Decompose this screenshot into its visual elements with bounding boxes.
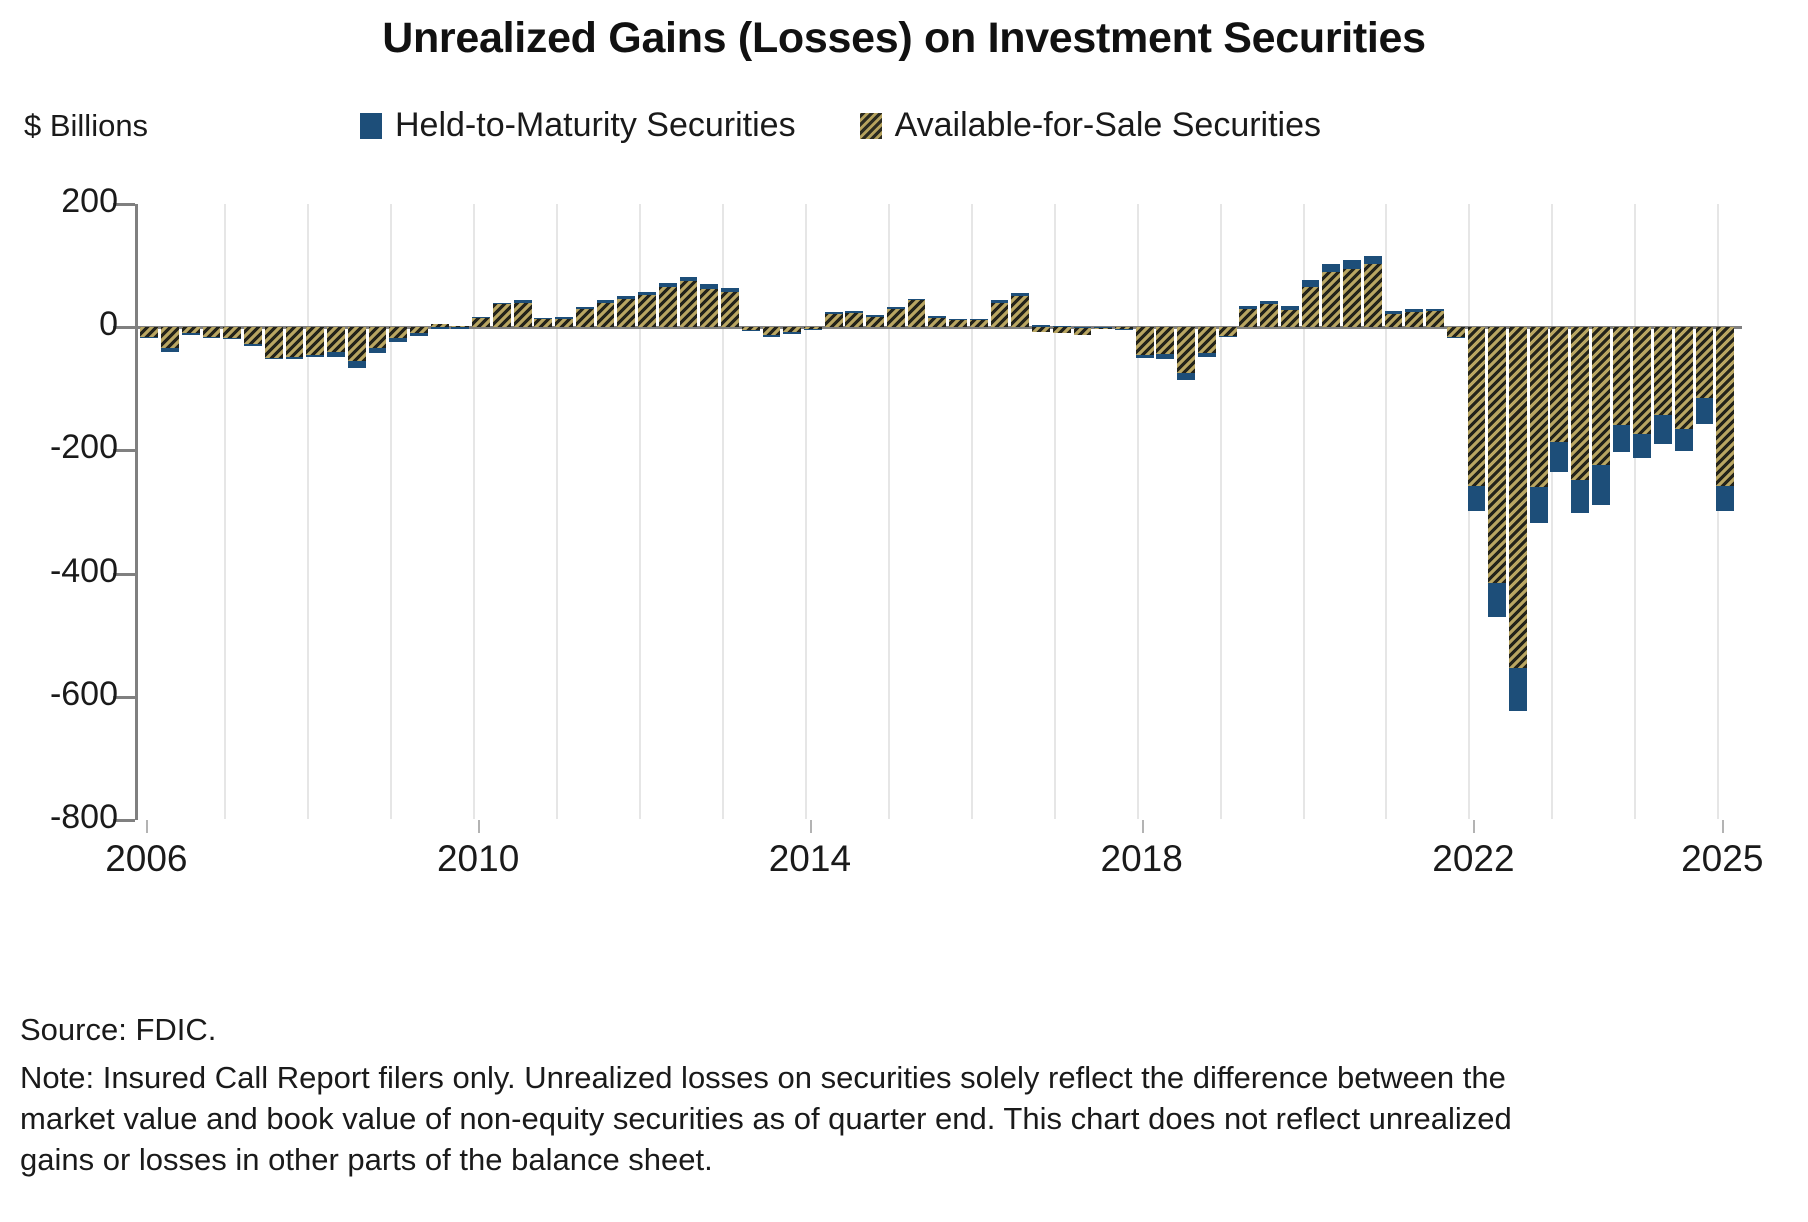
legend-swatch-afs-icon bbox=[860, 113, 882, 139]
bar-column[interactable] bbox=[1613, 204, 1631, 820]
bar-segment-afs bbox=[1239, 309, 1257, 327]
bar-column[interactable] bbox=[680, 204, 698, 820]
bar-segment-afs bbox=[1364, 264, 1382, 327]
bar-segment-htm bbox=[1509, 668, 1527, 711]
bar-column[interactable] bbox=[825, 204, 843, 820]
bar-segment-htm bbox=[1550, 442, 1568, 472]
bar-column[interactable] bbox=[928, 204, 946, 820]
bar-segment-afs bbox=[369, 327, 387, 348]
bar-segment-afs bbox=[597, 303, 615, 328]
bar-segment-afs bbox=[866, 317, 884, 327]
bar-segment-afs bbox=[161, 327, 179, 348]
bar-segment-htm bbox=[327, 352, 345, 356]
bar-segment-htm bbox=[223, 338, 241, 339]
bar-column[interactable] bbox=[908, 204, 926, 820]
bar-segment-htm bbox=[576, 307, 594, 309]
bar-column[interactable] bbox=[431, 204, 449, 820]
bar-segment-htm bbox=[1053, 326, 1071, 327]
bar-segment-afs bbox=[555, 319, 573, 328]
bar-segment-afs bbox=[534, 319, 552, 327]
bar-column[interactable] bbox=[1322, 204, 1340, 820]
bar-segment-htm bbox=[825, 312, 843, 313]
bar-column[interactable] bbox=[1239, 204, 1257, 820]
bar-segment-afs bbox=[576, 309, 594, 327]
bar-segment-htm bbox=[182, 333, 200, 334]
bar-column[interactable] bbox=[244, 204, 262, 820]
bar-segment-afs bbox=[1426, 311, 1444, 327]
bar-column[interactable] bbox=[763, 204, 781, 820]
page-title: Unrealized Gains (Losses) on Investment … bbox=[0, 14, 1808, 63]
bar-segment-afs bbox=[472, 317, 490, 327]
bar-segment-htm bbox=[680, 277, 698, 281]
bar-segment-afs bbox=[991, 303, 1009, 328]
bar-segment-afs bbox=[1613, 327, 1631, 425]
bar-segment-htm bbox=[1302, 280, 1320, 286]
bar-segment-afs bbox=[286, 327, 304, 357]
bar-segment-htm bbox=[1468, 486, 1486, 511]
bar-column[interactable] bbox=[1343, 204, 1361, 820]
x-axis-tick-label: 2018 bbox=[1101, 838, 1183, 880]
bar-column[interactable] bbox=[1716, 204, 1734, 820]
bar-segment-afs bbox=[1198, 327, 1216, 353]
bar-segment-htm bbox=[410, 333, 428, 335]
bar-segment-afs bbox=[721, 292, 739, 327]
bar-column[interactable] bbox=[949, 204, 967, 820]
bar-column[interactable] bbox=[1281, 204, 1299, 820]
bar-segment-htm bbox=[928, 316, 946, 317]
bar-segment-afs bbox=[1696, 327, 1714, 398]
bar-segment-afs bbox=[908, 300, 926, 327]
bar-column[interactable] bbox=[161, 204, 179, 820]
bar-column[interactable] bbox=[472, 204, 490, 820]
bar-segment-afs bbox=[1509, 327, 1527, 668]
bar-column[interactable] bbox=[493, 204, 511, 820]
bar-segment-htm bbox=[1343, 260, 1361, 269]
bar-column[interactable] bbox=[1405, 204, 1423, 820]
legend-item-afs[interactable]: Available-for-Sale Securities bbox=[860, 106, 1321, 145]
bar-column[interactable] bbox=[1447, 204, 1465, 820]
bar-segment-afs bbox=[389, 327, 407, 338]
bar-column[interactable] bbox=[327, 204, 345, 820]
bar-segment-afs bbox=[1468, 327, 1486, 486]
bar-segment-htm bbox=[970, 319, 988, 320]
bar-segment-afs bbox=[763, 327, 781, 335]
bar-segment-afs bbox=[638, 295, 656, 327]
y-axis-title: $ Billions bbox=[24, 108, 148, 144]
bar-segment-afs bbox=[1177, 327, 1195, 373]
bar-segment-htm bbox=[1613, 425, 1631, 452]
bar-column[interactable] bbox=[1094, 204, 1112, 820]
bar-segment-htm bbox=[991, 300, 1009, 302]
bar-segment-htm bbox=[1488, 583, 1506, 617]
bar-column[interactable] bbox=[514, 204, 532, 820]
bar-segment-afs bbox=[327, 327, 345, 352]
bar-segment-htm bbox=[1364, 256, 1382, 264]
legend-swatch-htm-icon bbox=[360, 113, 382, 139]
bar-segment-afs bbox=[1136, 327, 1154, 355]
bar-column[interactable] bbox=[1011, 204, 1029, 820]
bar-column[interactable] bbox=[1633, 204, 1651, 820]
bar-segment-htm bbox=[1571, 480, 1589, 513]
bar-segment-afs bbox=[1156, 327, 1174, 354]
bar-column[interactable] bbox=[306, 204, 324, 820]
bar-column[interactable] bbox=[866, 204, 884, 820]
bar-segment-htm bbox=[1260, 301, 1278, 304]
footnote: Note: Insured Call Report filers only. U… bbox=[20, 1058, 1580, 1181]
bar-segment-afs bbox=[1654, 327, 1672, 414]
bar-segment-afs bbox=[1032, 327, 1050, 332]
y-axis-tick-label: -200 bbox=[50, 428, 118, 467]
bar-column[interactable] bbox=[1053, 204, 1071, 820]
bar-segment-afs bbox=[1260, 304, 1278, 327]
bar-column[interactable] bbox=[369, 204, 387, 820]
bar-segment-htm bbox=[1219, 336, 1237, 337]
bar-segment-afs bbox=[1405, 312, 1423, 327]
legend-label-htm: Held-to-Maturity Securities bbox=[395, 106, 796, 145]
bar-column[interactable] bbox=[659, 204, 677, 820]
bar-column[interactable] bbox=[1550, 204, 1568, 820]
bar-segment-htm bbox=[1405, 309, 1423, 311]
bar-segment-htm bbox=[265, 358, 283, 359]
bar-segment-htm bbox=[161, 348, 179, 352]
bar-segment-afs bbox=[1592, 327, 1610, 464]
bar-column[interactable] bbox=[700, 204, 718, 820]
bar-segment-htm bbox=[1011, 293, 1029, 296]
bar-column[interactable] bbox=[451, 204, 469, 820]
bar-segment-htm bbox=[908, 299, 926, 300]
x-axis-tick bbox=[478, 820, 480, 833]
plot-area bbox=[135, 204, 1742, 819]
bar-segment-htm bbox=[493, 303, 511, 304]
bar-segment-htm bbox=[1322, 264, 1340, 273]
bar-segment-afs bbox=[1675, 327, 1693, 429]
bar-column[interactable] bbox=[1385, 204, 1403, 820]
bar-column[interactable] bbox=[1032, 204, 1050, 820]
bar-segment-afs bbox=[949, 320, 967, 327]
bar-column[interactable] bbox=[1675, 204, 1693, 820]
bar-segment-htm bbox=[451, 327, 469, 328]
bar-column[interactable] bbox=[1426, 204, 1444, 820]
x-axis-tick-label: 2014 bbox=[769, 838, 851, 880]
bar-segment-afs bbox=[244, 327, 262, 344]
bar-column[interactable] bbox=[265, 204, 283, 820]
bar-segment-htm bbox=[887, 307, 905, 308]
source-note: Source: FDIC. bbox=[20, 1012, 216, 1048]
bar-column[interactable] bbox=[804, 204, 822, 820]
bar-segment-htm bbox=[306, 355, 324, 357]
bar-segment-afs bbox=[1343, 269, 1361, 328]
bar-segment-afs bbox=[1716, 327, 1734, 486]
bar-column[interactable] bbox=[597, 204, 615, 820]
bar-segment-htm bbox=[721, 288, 739, 292]
bar-segment-htm bbox=[700, 284, 718, 289]
bar-column[interactable] bbox=[1219, 204, 1237, 820]
bar-segment-afs bbox=[680, 281, 698, 327]
bar-segment-afs bbox=[825, 314, 843, 328]
bar-column[interactable] bbox=[970, 204, 988, 820]
bar-segment-htm bbox=[1177, 373, 1195, 379]
bar-column[interactable] bbox=[576, 204, 594, 820]
bar-column[interactable] bbox=[887, 204, 905, 820]
bar-segment-afs bbox=[1053, 327, 1071, 333]
y-axis-tick-label: -600 bbox=[50, 675, 118, 714]
bar-column[interactable] bbox=[1074, 204, 1092, 820]
bar-segment-afs bbox=[1011, 296, 1029, 327]
bar-column[interactable] bbox=[1156, 204, 1174, 820]
bar-column[interactable] bbox=[1696, 204, 1714, 820]
bar-segment-htm bbox=[659, 283, 677, 287]
bar-segment-afs bbox=[887, 309, 905, 327]
bar-segment-afs bbox=[1633, 327, 1651, 434]
bar-column[interactable] bbox=[1198, 204, 1216, 820]
bar-segment-htm bbox=[1032, 325, 1050, 327]
bar-column[interactable] bbox=[1530, 204, 1548, 820]
bar-segment-htm bbox=[1074, 327, 1092, 328]
bar-segment-htm bbox=[1530, 487, 1548, 523]
bar-segment-htm bbox=[534, 318, 552, 319]
bar-segment-htm bbox=[1115, 329, 1133, 330]
y-axis-tick-label: -800 bbox=[50, 798, 118, 837]
bar-column[interactable] bbox=[348, 204, 366, 820]
bar-segment-afs bbox=[348, 327, 366, 361]
bar-column[interactable] bbox=[182, 204, 200, 820]
bar-column[interactable] bbox=[534, 204, 552, 820]
bar-segment-afs bbox=[140, 327, 158, 337]
bar-segment-afs bbox=[1550, 327, 1568, 442]
bar-column[interactable] bbox=[742, 204, 760, 820]
legend-item-htm[interactable]: Held-to-Maturity Securities bbox=[360, 106, 796, 145]
bar-segment-htm bbox=[244, 344, 262, 346]
bar-segment-htm bbox=[555, 317, 573, 318]
bar-segment-afs bbox=[223, 327, 241, 337]
bar-segment-afs bbox=[1385, 314, 1403, 328]
bar-segment-htm bbox=[783, 332, 801, 333]
bar-segment-htm bbox=[597, 300, 615, 302]
bar-column[interactable] bbox=[845, 204, 863, 820]
bar-segment-afs bbox=[659, 287, 677, 328]
bar-column[interactable] bbox=[140, 204, 158, 820]
bar-column[interactable] bbox=[1654, 204, 1672, 820]
bar-segment-htm bbox=[1426, 309, 1444, 311]
bar-segment-afs bbox=[514, 303, 532, 328]
bar-segment-htm bbox=[1281, 306, 1299, 310]
y-axis-tick-label: 0 bbox=[99, 305, 118, 344]
x-axis-tick-label: 2025 bbox=[1681, 838, 1763, 880]
bar-segment-afs bbox=[493, 304, 511, 327]
bar-segment-htm bbox=[949, 319, 967, 320]
x-axis-tick bbox=[1722, 820, 1724, 833]
bar-column[interactable] bbox=[783, 204, 801, 820]
chart-legend: Held-to-Maturity Securities Available-fo… bbox=[360, 106, 1360, 145]
bar-column[interactable] bbox=[638, 204, 656, 820]
bar-segment-afs bbox=[1281, 310, 1299, 327]
bar-segment-htm bbox=[472, 317, 490, 318]
x-axis-tick bbox=[1142, 820, 1144, 833]
x-axis-tick bbox=[1473, 820, 1475, 833]
bar-segment-htm bbox=[742, 330, 760, 331]
bar-column[interactable] bbox=[555, 204, 573, 820]
y-axis-tick-label: 200 bbox=[61, 182, 118, 221]
bar-column[interactable] bbox=[223, 204, 241, 820]
bar-segment-afs bbox=[1447, 327, 1465, 337]
bar-column[interactable] bbox=[286, 204, 304, 820]
bar-segment-afs bbox=[1302, 287, 1320, 328]
bar-column[interactable] bbox=[1302, 204, 1320, 820]
bar-column[interactable] bbox=[389, 204, 407, 820]
bar-segment-afs bbox=[203, 327, 221, 337]
bar-segment-afs bbox=[970, 320, 988, 327]
bar-column[interactable] bbox=[1509, 204, 1527, 820]
bar-column[interactable] bbox=[1468, 204, 1486, 820]
bar-segment-afs bbox=[928, 317, 946, 327]
bar-segment-htm bbox=[1094, 327, 1112, 328]
x-axis-tick-label: 2006 bbox=[105, 838, 187, 880]
bar-segment-htm bbox=[1385, 311, 1403, 314]
bar-segment-htm bbox=[389, 338, 407, 342]
bar-column[interactable] bbox=[1592, 204, 1610, 820]
bar-column[interactable] bbox=[203, 204, 221, 820]
bar-column[interactable] bbox=[1136, 204, 1154, 820]
bar-segment-htm bbox=[431, 327, 449, 328]
bar-segment-htm bbox=[1654, 415, 1672, 444]
bar-column[interactable] bbox=[1177, 204, 1195, 820]
bar-segment-htm bbox=[1633, 434, 1651, 459]
bar-column[interactable] bbox=[617, 204, 635, 820]
bar-segment-afs bbox=[617, 299, 635, 327]
bar-segment-afs bbox=[845, 312, 863, 327]
bar-segment-htm bbox=[369, 348, 387, 353]
bar-segment-htm bbox=[617, 296, 635, 299]
bar-column[interactable] bbox=[1364, 204, 1382, 820]
bar-segment-afs bbox=[1322, 272, 1340, 327]
bar-segment-afs bbox=[1530, 327, 1548, 487]
bar-segment-htm bbox=[514, 300, 532, 302]
bar-segment-afs bbox=[1219, 327, 1237, 336]
bar-segment-afs bbox=[1571, 327, 1589, 480]
bar-segment-htm bbox=[638, 292, 656, 295]
bar-column[interactable] bbox=[1488, 204, 1506, 820]
bar-segment-htm bbox=[1696, 398, 1714, 424]
bar-segment-afs bbox=[1074, 327, 1092, 334]
bar-column[interactable] bbox=[410, 204, 428, 820]
bar-segment-htm bbox=[845, 311, 863, 312]
bar-column[interactable] bbox=[1571, 204, 1589, 820]
bar-segment-afs bbox=[306, 327, 324, 355]
bar-segment-htm bbox=[1592, 465, 1610, 506]
bar-segment-htm bbox=[140, 337, 158, 338]
bar-segment-htm bbox=[286, 357, 304, 358]
bar-segment-afs bbox=[700, 289, 718, 327]
legend-label-afs: Available-for-Sale Securities bbox=[895, 106, 1321, 145]
bar-segment-afs bbox=[1488, 327, 1506, 583]
y-axis-tick-label: -400 bbox=[50, 552, 118, 591]
bar-segment-htm bbox=[1716, 486, 1734, 511]
bar-column[interactable] bbox=[1115, 204, 1133, 820]
x-axis-tick bbox=[146, 820, 148, 833]
x-axis-tick bbox=[810, 820, 812, 833]
bar-segment-afs bbox=[265, 327, 283, 358]
bar-segment-htm bbox=[203, 337, 221, 338]
bar-segment-htm bbox=[1239, 306, 1257, 308]
bar-column[interactable] bbox=[721, 204, 739, 820]
bar-segment-htm bbox=[1198, 353, 1216, 357]
x-axis-tick-label: 2010 bbox=[437, 838, 519, 880]
bar-segment-htm bbox=[763, 335, 781, 336]
bar-segment-htm bbox=[1156, 354, 1174, 359]
bar-segment-htm bbox=[1136, 355, 1154, 358]
bar-segment-htm bbox=[866, 315, 884, 316]
bar-column[interactable] bbox=[991, 204, 1009, 820]
bar-segment-htm bbox=[1675, 429, 1693, 451]
bar-segment-htm bbox=[1447, 337, 1465, 338]
bar-segment-htm bbox=[804, 329, 822, 330]
x-axis-tick-label: 2022 bbox=[1432, 838, 1514, 880]
bar-segment-htm bbox=[348, 361, 366, 368]
bar-column[interactable] bbox=[1260, 204, 1278, 820]
